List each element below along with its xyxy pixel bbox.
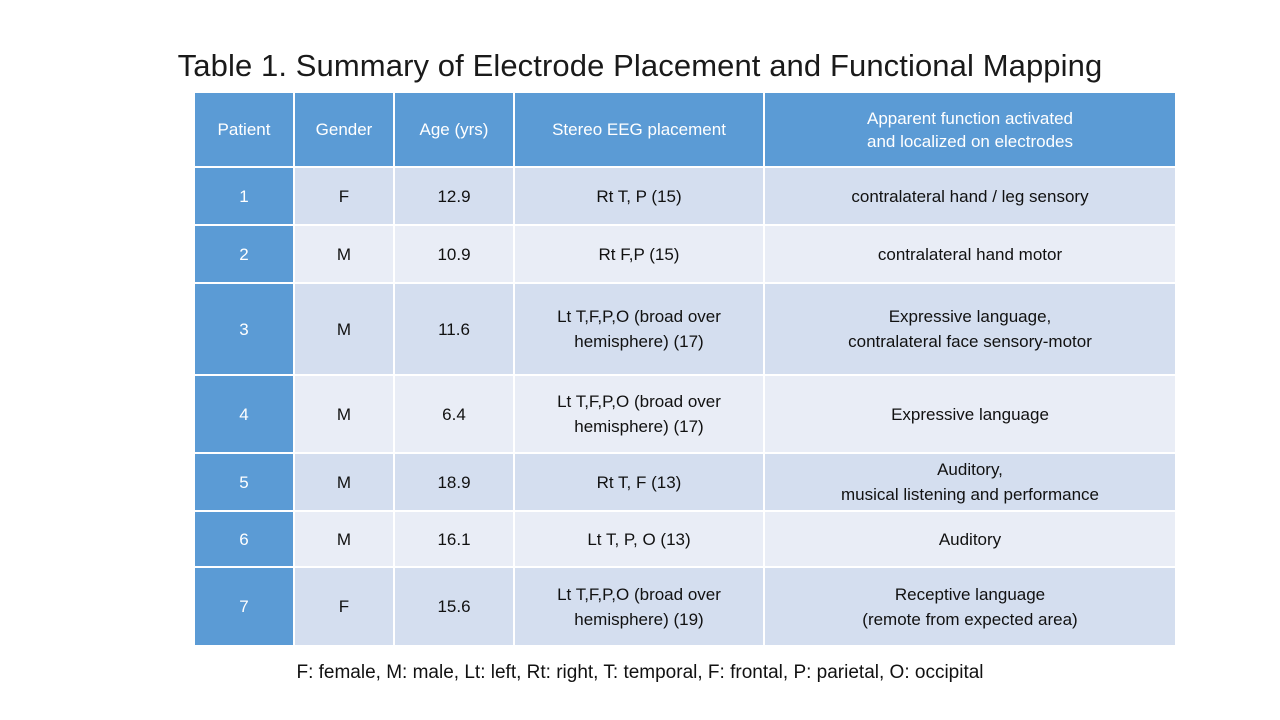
cell-function-line-2: contralateral face sensory-motor — [771, 329, 1169, 354]
table-row: 1 F 12.9 Rt T, P (15) contralateral hand… — [195, 168, 1175, 226]
cell-age: 11.6 — [395, 284, 515, 376]
cell-function-line-1: contralateral hand motor — [771, 242, 1169, 267]
column-header-age: Age (yrs) — [395, 93, 515, 168]
summary-table: Patient Gender Age (yrs) Stereo EEG plac… — [195, 93, 1175, 645]
cell-apparent-function: contralateral hand / leg sensory — [765, 168, 1175, 226]
cell-apparent-function: Receptive language (remote from expected… — [765, 568, 1175, 645]
cell-age: 6.4 — [395, 376, 515, 454]
cell-gender: F — [295, 168, 395, 226]
table-body: 1 F 12.9 Rt T, P (15) contralateral hand… — [195, 168, 1175, 645]
cell-age: 15.6 — [395, 568, 515, 645]
table-footnote: F: female, M: male, Lt: left, Rt: right,… — [0, 660, 1280, 686]
table-header-row: Patient Gender Age (yrs) Stereo EEG plac… — [195, 93, 1175, 168]
column-header-apparent-function: Apparent function activated and localize… — [765, 93, 1175, 168]
cell-gender: M — [295, 284, 395, 376]
cell-function-line-2: (remote from expected area) — [771, 607, 1169, 632]
cell-stereo-placement: Rt F,P (15) — [515, 226, 765, 284]
cell-gender: F — [295, 568, 395, 645]
cell-apparent-function: Auditory — [765, 512, 1175, 568]
cell-stereo-placement: Rt T, P (15) — [515, 168, 765, 226]
cell-stereo-placement: Lt T, P, O (13) — [515, 512, 765, 568]
cell-function-line-1: Auditory, — [771, 457, 1169, 482]
table-container: Patient Gender Age (yrs) Stereo EEG plac… — [195, 93, 1175, 645]
cell-stereo-line-2: hemisphere) (17) — [521, 414, 757, 439]
cell-patient: 7 — [195, 568, 295, 645]
cell-function-line-1: Auditory — [771, 527, 1169, 552]
cell-function-line-1: Expressive language, — [771, 304, 1169, 329]
cell-stereo-placement: Rt T, F (13) — [515, 454, 765, 512]
cell-patient: 1 — [195, 168, 295, 226]
column-header-apparent-function-line-2: and localized on electrodes — [771, 130, 1169, 153]
cell-function-line-1: contralateral hand / leg sensory — [771, 184, 1169, 209]
cell-patient: 3 — [195, 284, 295, 376]
cell-function-line-1: Expressive language — [771, 402, 1169, 427]
cell-patient: 4 — [195, 376, 295, 454]
cell-apparent-function: Auditory, musical listening and performa… — [765, 454, 1175, 512]
cell-stereo-line-1: Rt T, P (15) — [521, 184, 757, 209]
cell-stereo-line-1: Lt T,F,P,O (broad over — [521, 304, 757, 329]
cell-patient: 6 — [195, 512, 295, 568]
table-row: 7 F 15.6 Lt T,F,P,O (broad over hemisphe… — [195, 568, 1175, 645]
table-row: 6 M 16.1 Lt T, P, O (13) Auditory — [195, 512, 1175, 568]
table-row: 3 M 11.6 Lt T,F,P,O (broad over hemisphe… — [195, 284, 1175, 376]
cell-function-line-1: Receptive language — [771, 582, 1169, 607]
cell-age: 12.9 — [395, 168, 515, 226]
cell-stereo-line-1: Lt T,F,P,O (broad over — [521, 389, 757, 414]
cell-stereo-placement: Lt T,F,P,O (broad over hemisphere) (19) — [515, 568, 765, 645]
cell-age: 18.9 — [395, 454, 515, 512]
cell-patient: 2 — [195, 226, 295, 284]
table-row: 4 M 6.4 Lt T,F,P,O (broad over hemispher… — [195, 376, 1175, 454]
cell-apparent-function: Expressive language — [765, 376, 1175, 454]
column-header-gender: Gender — [295, 93, 395, 168]
cell-stereo-line-1: Rt F,P (15) — [521, 242, 757, 267]
cell-gender: M — [295, 454, 395, 512]
cell-gender: M — [295, 376, 395, 454]
cell-function-line-2: musical listening and performance — [771, 482, 1169, 507]
table-row: 2 M 10.9 Rt F,P (15) contralateral hand … — [195, 226, 1175, 284]
cell-apparent-function: contralateral hand motor — [765, 226, 1175, 284]
cell-stereo-line-1: Lt T,F,P,O (broad over — [521, 582, 757, 607]
cell-stereo-line-2: hemisphere) (17) — [521, 329, 757, 354]
cell-stereo-line-2: hemisphere) (19) — [521, 607, 757, 632]
table-header: Patient Gender Age (yrs) Stereo EEG plac… — [195, 93, 1175, 168]
page-title: Table 1. Summary of Electrode Placement … — [0, 46, 1280, 86]
cell-age: 16.1 — [395, 512, 515, 568]
cell-stereo-line-1: Rt T, F (13) — [521, 470, 757, 495]
column-header-stereo-eeg-placement: Stereo EEG placement — [515, 93, 765, 168]
cell-gender: M — [295, 512, 395, 568]
cell-stereo-placement: Lt T,F,P,O (broad over hemisphere) (17) — [515, 284, 765, 376]
table-row: 5 M 18.9 Rt T, F (13) Auditory, musical … — [195, 454, 1175, 512]
cell-stereo-placement: Lt T,F,P,O (broad over hemisphere) (17) — [515, 376, 765, 454]
slide-canvas: Table 1. Summary of Electrode Placement … — [0, 0, 1280, 720]
cell-stereo-line-1: Lt T, P, O (13) — [521, 527, 757, 552]
column-header-patient: Patient — [195, 93, 295, 168]
cell-gender: M — [295, 226, 395, 284]
cell-patient: 5 — [195, 454, 295, 512]
cell-apparent-function: Expressive language, contralateral face … — [765, 284, 1175, 376]
cell-age: 10.9 — [395, 226, 515, 284]
column-header-apparent-function-line-1: Apparent function activated — [771, 107, 1169, 130]
